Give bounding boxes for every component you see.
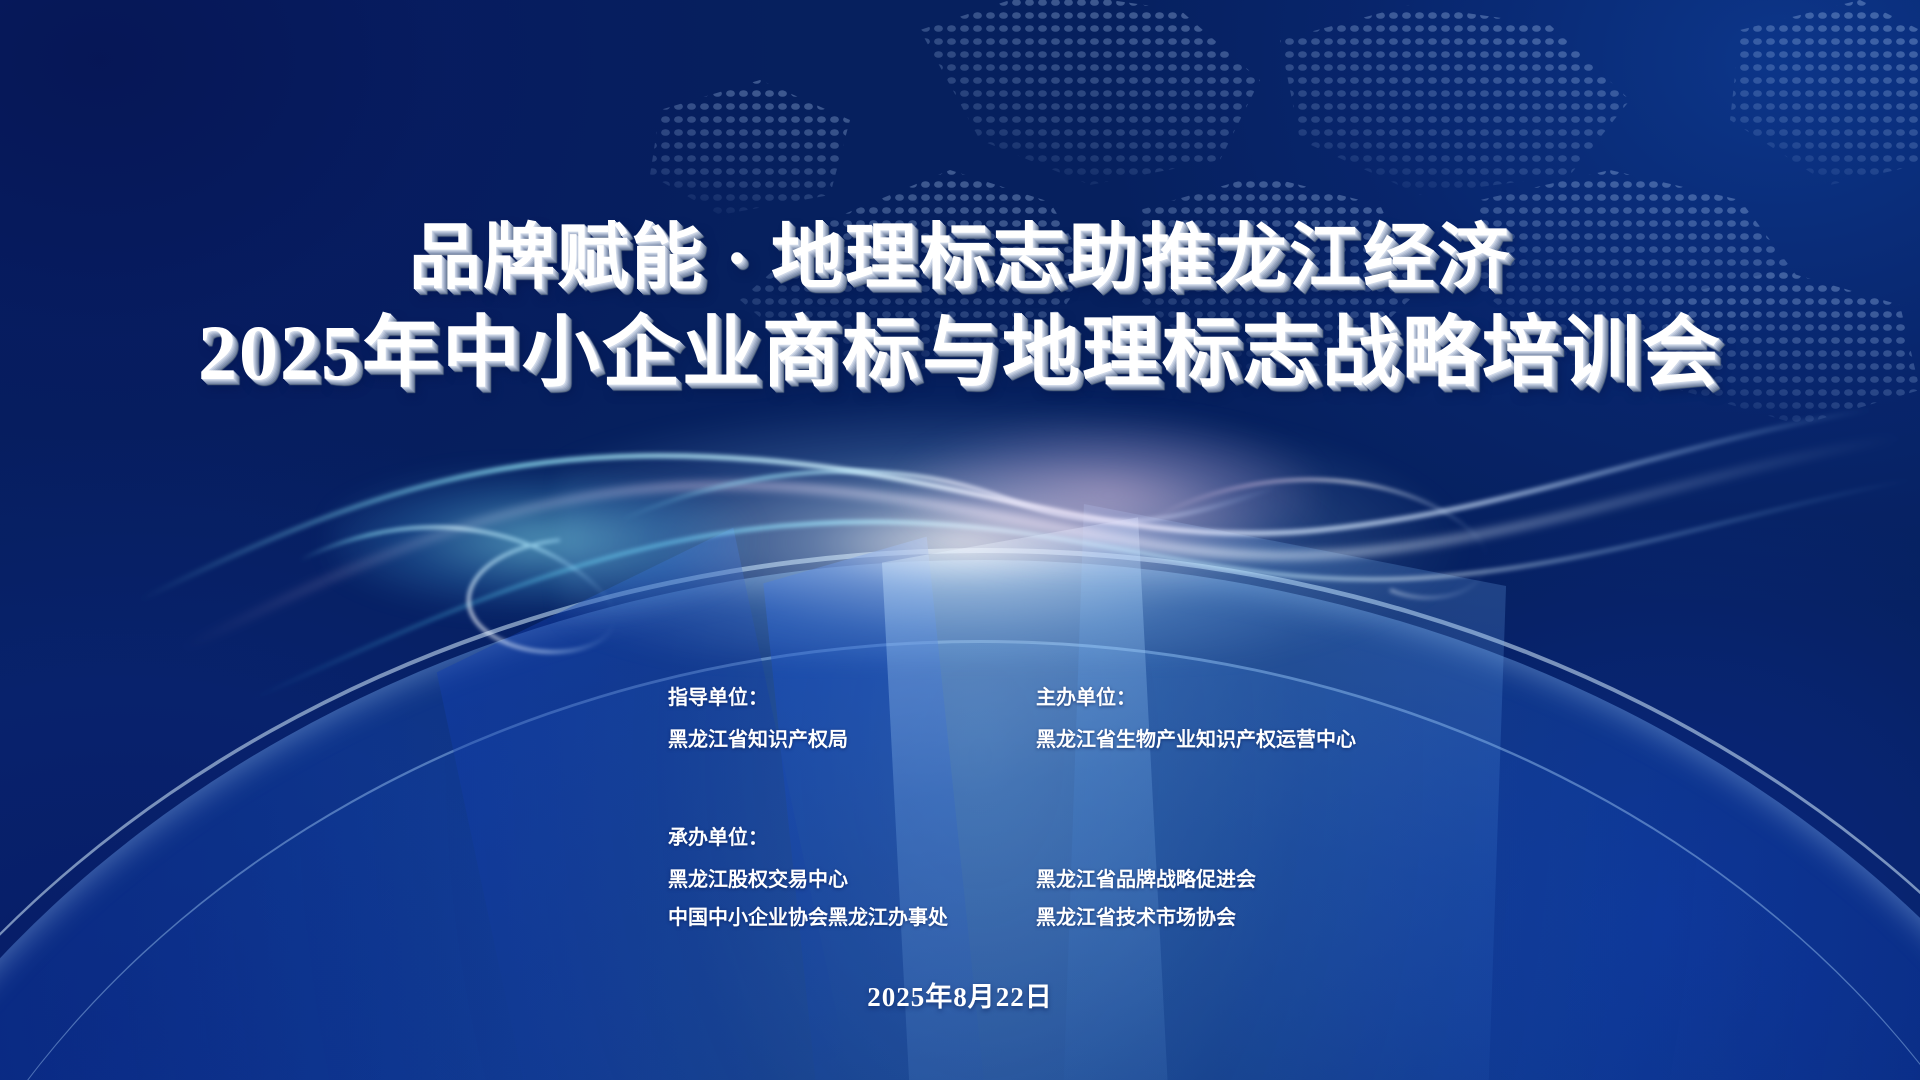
light-ribbon-decoration [0,400,1920,740]
organizer-unit-name-3: 黑龙江省品牌战略促进会 [1036,870,1404,890]
light-beam-left [763,537,986,1080]
organizer-column-left: 承办单位： 黑龙江股权交易中心 中国中小企业协会黑龙江办事处 [668,828,1036,928]
title-line-2: 2025年中小企业商标与地理标志战略培训会 [0,307,1920,399]
organization-group-organizer: 承办单位： 黑龙江股权交易中心 中国中小企业协会黑龙江办事处 黑龙江省品牌战略促… [668,828,1428,928]
organizer-unit-label: 承办单位： [668,828,1036,848]
title-line-1: 品牌赋能 · 地理标志助推龙江经济 [0,216,1920,301]
background-vignette-top-left [0,0,800,620]
organizer-unit-name-2: 中国中小企业协会黑龙江办事处 [668,908,1036,928]
guidance-unit-label: 指导单位： [668,688,1036,708]
globe-rim-highlight [0,548,1920,1080]
host-unit-label: 主办单位： [1036,688,1404,708]
dotted-world-map-icon [620,0,1920,440]
guidance-unit-name: 黑龙江省知识产权局 [668,730,1036,750]
organizer-column-right: 黑龙江省品牌战略促进会 黑龙江省技术市场协会 [1036,828,1404,928]
banner-title: 品牌赋能 · 地理标志助推龙江经济 2025年中小企业商标与地理标志战略培训会 [0,216,1920,399]
background-vignette-bottom-right [1220,520,1920,1080]
conference-banner: 品牌赋能 · 地理标志助推龙江经济 2025年中小企业商标与地理标志战略培训会 … [0,0,1920,1080]
cyan-glow [330,470,750,610]
pink-glow [900,420,1320,570]
host-unit-name: 黑龙江省生物产业知识产权运营中心 [1036,730,1404,750]
globe-inner-arc [0,640,1920,1080]
organization-group-guidance: 指导单位： 黑龙江省知识产权局 主办单位： 黑龙江省生物产业知识产权运营中心 [668,688,1428,750]
light-beam-far-left [437,528,845,1080]
center-glow [560,400,1460,660]
organizer-label-spacer [1036,828,1404,848]
background-vignette-bottom-left [0,440,840,1080]
organization-labels-row: 指导单位： 黑龙江省知识产权局 主办单位： 黑龙江省生物产业知识产权运营中心 [668,688,1428,750]
light-beam-right [1063,504,1506,1080]
organization-column-right: 主办单位： 黑龙江省生物产业知识产权运营中心 [1036,688,1404,750]
light-beam-center [882,517,1170,1080]
organizer-unit-name-1: 黑龙江股权交易中心 [668,870,1036,890]
organizations-block: 指导单位： 黑龙江省知识产权局 主办单位： 黑龙江省生物产业知识产权运营中心 承… [668,688,1428,964]
globe-arc-shape [0,560,1920,1080]
event-date: 2025年8月22日 [0,975,1920,1014]
organizer-labels-row: 承办单位： 黑龙江股权交易中心 中国中小企业协会黑龙江办事处 黑龙江省品牌战略促… [668,828,1428,928]
organizer-unit-name-4: 黑龙江省技术市场协会 [1036,908,1404,928]
background-vignette-top-right [1120,0,1920,600]
organization-column-left: 指导单位： 黑龙江省知识产权局 [668,688,1036,750]
organization-spacer [668,786,1428,828]
